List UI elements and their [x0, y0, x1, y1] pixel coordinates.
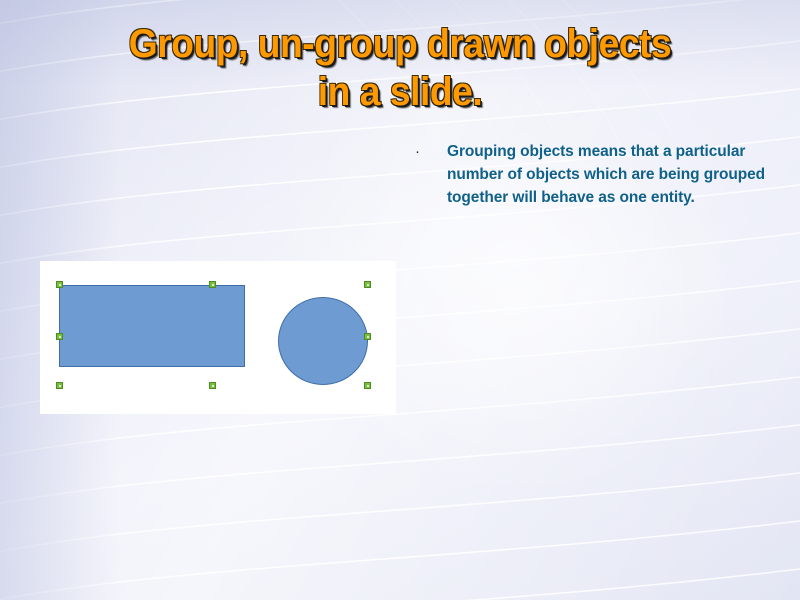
bullet-item-text: Grouping objects means that a particular…	[447, 140, 770, 209]
drawn-circle-shape	[278, 297, 368, 385]
slide-title: Group, un-group drawn objects in a slide…	[65, 20, 735, 116]
slide-body-placeholder: · Grouping objects means that a particul…	[410, 140, 770, 209]
selection-handle-top-center[interactable]	[209, 281, 216, 288]
bullet-dot-icon: ·	[410, 140, 447, 163]
selection-handle-bottom-right[interactable]	[364, 382, 371, 389]
selection-handle-top-left[interactable]	[56, 281, 63, 288]
drawn-rectangle-shape	[59, 285, 245, 367]
slide-canvas: Group, un-group drawn objects in a slide…	[0, 0, 800, 600]
selection-handle-middle-left[interactable]	[56, 333, 63, 340]
bullet-list-item: · Grouping objects means that a particul…	[410, 140, 770, 209]
selection-handle-top-right[interactable]	[364, 281, 371, 288]
selection-handle-bottom-left[interactable]	[56, 382, 63, 389]
slide-picture-shapes-illustration	[40, 261, 396, 414]
selection-handle-bottom-center[interactable]	[209, 382, 216, 389]
selection-handle-middle-right[interactable]	[364, 333, 371, 340]
